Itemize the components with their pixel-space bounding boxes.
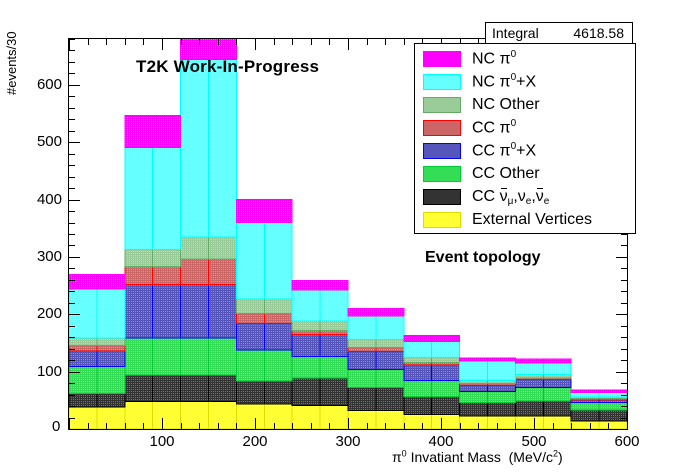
hist-bin xyxy=(543,388,571,401)
hist-bin xyxy=(348,316,376,340)
hist-bin xyxy=(181,60,209,237)
x-minor-tick xyxy=(571,423,572,429)
hist-bin xyxy=(209,375,237,401)
hist-bin xyxy=(69,366,97,393)
legend-caption: Event topology xyxy=(425,249,541,267)
hist-bin xyxy=(320,290,348,321)
hist-bin xyxy=(320,357,348,378)
hist-bin xyxy=(97,351,125,366)
y-tick-label: 500 xyxy=(16,134,62,149)
hist-bin xyxy=(292,334,320,356)
hist-bin xyxy=(348,352,376,370)
hist-bin xyxy=(320,330,348,334)
hist-bin xyxy=(153,115,181,147)
hist-bin xyxy=(264,223,292,299)
hist-bin xyxy=(376,369,404,387)
hist-bin xyxy=(599,390,627,392)
y-minor-tick xyxy=(621,349,627,350)
hist-bin xyxy=(292,321,320,330)
x-tick-label: 400 xyxy=(411,434,471,449)
x-major-tick xyxy=(348,418,349,429)
hist-bin xyxy=(488,361,516,381)
hist-bin xyxy=(320,280,348,290)
x-minor-tick xyxy=(478,423,479,429)
y-major-tick xyxy=(616,429,627,430)
hist-bin xyxy=(404,336,432,342)
hist-bin xyxy=(236,200,264,223)
x-tick-label: 200 xyxy=(225,434,285,449)
legend-item-3[interactable]: CC π0 xyxy=(415,116,635,139)
x-minor-tick xyxy=(515,423,516,429)
x-minor-tick xyxy=(274,39,275,45)
hist-bin xyxy=(97,345,125,351)
legend-item-label: NC Other xyxy=(472,97,540,113)
hist-bin xyxy=(404,341,432,357)
hist-bin xyxy=(236,223,264,299)
hist-bin xyxy=(571,410,599,421)
x-minor-tick xyxy=(385,423,386,429)
hist-bin xyxy=(460,380,488,383)
hist-bin xyxy=(181,284,209,337)
x-tick-label: 100 xyxy=(132,434,192,449)
hist-bin xyxy=(432,380,460,396)
hist-bin xyxy=(264,299,292,314)
x-minor-tick xyxy=(590,423,591,429)
legend-item-7[interactable]: External Vertices xyxy=(415,208,635,231)
y-minor-tick xyxy=(69,211,75,212)
x-minor-tick xyxy=(329,39,330,45)
hist-bin xyxy=(125,338,153,375)
hist-bin xyxy=(488,358,516,361)
hist-bin xyxy=(181,401,209,429)
y-minor-tick xyxy=(69,291,75,292)
hist-bin xyxy=(264,404,292,429)
hist-bin xyxy=(432,396,460,414)
hist-bin xyxy=(209,338,237,375)
y-minor-tick xyxy=(621,395,627,396)
hist-bin xyxy=(460,403,488,416)
x-tick-label: 500 xyxy=(504,434,564,449)
legend-item-1[interactable]: NC π0+X xyxy=(415,70,635,93)
y-minor-tick xyxy=(621,303,627,304)
y-axis-origin-label: 0 xyxy=(52,418,60,435)
hist-bin xyxy=(404,357,432,362)
legend-swatch-icon xyxy=(423,166,461,182)
x-minor-tick xyxy=(88,423,89,429)
legend-swatch-icon xyxy=(423,97,461,113)
hist-bin xyxy=(209,60,237,237)
hist-bin xyxy=(432,336,460,342)
hist-bin xyxy=(97,275,125,289)
x-minor-tick xyxy=(311,39,312,45)
hist-bin xyxy=(181,259,209,284)
hist-bin xyxy=(292,290,320,321)
hist-bin xyxy=(236,323,264,349)
legend-item-label: CC Other xyxy=(472,166,540,182)
hist-bin xyxy=(571,403,599,410)
hist-bin xyxy=(264,381,292,404)
statistics-box: Integral 4618.58 xyxy=(485,22,633,44)
x-minor-tick xyxy=(367,39,368,45)
y-tick-label: 600 xyxy=(16,77,62,92)
hist-bin xyxy=(264,323,292,349)
hist-bin xyxy=(460,358,488,361)
hist-bin xyxy=(515,363,543,374)
x-minor-tick xyxy=(404,39,405,45)
y-major-tick xyxy=(69,85,80,86)
y-minor-tick xyxy=(69,50,75,51)
hist-bin xyxy=(320,334,348,356)
legend-swatch-icon xyxy=(423,51,461,67)
hist-bin xyxy=(571,390,599,392)
y-minor-tick xyxy=(69,165,75,166)
y-minor-tick xyxy=(69,234,75,235)
legend-swatch-icon xyxy=(423,143,461,159)
hist-bin xyxy=(69,275,97,289)
statbox-label: Integral xyxy=(486,25,539,41)
legend-item-label: CC π0 xyxy=(472,119,516,136)
hist-bin xyxy=(292,330,320,334)
root-canvas-figure: #events/30 100200300400500600 1002003004… xyxy=(0,0,696,472)
x-minor-tick xyxy=(292,423,293,429)
hist-bin xyxy=(599,410,627,421)
hist-bin xyxy=(320,405,348,429)
x-minor-tick xyxy=(106,39,107,45)
x-minor-tick xyxy=(385,39,386,45)
x-major-tick xyxy=(162,418,163,429)
hist-bin xyxy=(432,365,460,380)
y-minor-tick xyxy=(69,303,75,304)
x-minor-tick xyxy=(88,39,89,45)
statbox-value: 4618.58 xyxy=(573,25,632,41)
y-major-tick xyxy=(69,142,80,143)
legend-item-label: CC νμ,νe,νe xyxy=(472,189,549,205)
legend-swatch-icon xyxy=(423,189,461,205)
hist-bin xyxy=(125,401,153,429)
hist-bin xyxy=(181,375,209,401)
hist-bin xyxy=(404,365,432,380)
hist-bin xyxy=(348,411,376,429)
hist-bin xyxy=(460,416,488,429)
x-minor-tick xyxy=(329,423,330,429)
hist-bin xyxy=(125,115,153,147)
y-minor-tick xyxy=(621,234,627,235)
hist-bin xyxy=(236,314,264,324)
x-tick-label: 600 xyxy=(597,434,657,449)
hist-bin xyxy=(348,309,376,316)
y-major-tick xyxy=(69,372,80,373)
hist-bin xyxy=(264,350,292,381)
x-minor-tick xyxy=(236,423,237,429)
x-minor-tick xyxy=(497,423,498,429)
hist-bin xyxy=(404,380,432,396)
x-minor-tick xyxy=(422,423,423,429)
hist-bin xyxy=(153,338,181,375)
hist-bin xyxy=(515,380,543,388)
y-minor-tick xyxy=(69,108,75,109)
y-minor-tick xyxy=(69,326,75,327)
legend-item-5[interactable]: CC Other xyxy=(415,162,635,185)
hist-bin xyxy=(460,392,488,403)
hist-bin xyxy=(348,340,376,348)
hist-bin xyxy=(376,348,404,352)
x-minor-tick xyxy=(181,423,182,429)
hist-bin xyxy=(348,388,376,411)
hist-bin xyxy=(236,350,264,381)
y-minor-tick xyxy=(69,62,75,63)
y-minor-tick xyxy=(69,383,75,384)
y-tick-label: 400 xyxy=(16,192,62,207)
y-tick-label: 300 xyxy=(16,249,62,264)
hist-bin xyxy=(488,392,516,403)
x-minor-tick xyxy=(236,39,237,45)
hist-bin xyxy=(236,381,264,404)
y-minor-tick xyxy=(69,73,75,74)
y-minor-tick xyxy=(69,188,75,189)
y-minor-tick xyxy=(69,395,75,396)
hist-bin xyxy=(404,396,432,414)
hist-bin xyxy=(97,393,125,407)
hist-bin xyxy=(236,404,264,429)
legend-item-label: External Vertices xyxy=(472,212,592,228)
hist-bin xyxy=(292,405,320,429)
x-minor-tick xyxy=(608,423,609,429)
hist-bin xyxy=(376,411,404,429)
hist-bin xyxy=(543,416,571,429)
hist-bin xyxy=(543,380,571,388)
x-major-tick xyxy=(69,418,70,429)
x-minor-tick xyxy=(125,423,126,429)
x-minor-tick xyxy=(106,423,107,429)
x-major-tick xyxy=(255,39,256,50)
y-minor-tick xyxy=(69,280,75,281)
hist-bin xyxy=(125,147,153,249)
hist-bin xyxy=(488,380,516,383)
y-minor-tick xyxy=(621,268,627,269)
legend: NC π0NC π0+XNC OtherCC π0CC π0+XCC Other… xyxy=(414,43,636,234)
x-tick-label: 300 xyxy=(318,434,378,449)
x-minor-tick xyxy=(367,423,368,429)
hist-bin xyxy=(181,338,209,375)
x-major-tick xyxy=(162,39,163,50)
legend-item-6[interactable]: CC νμ,νe,νe xyxy=(415,185,635,208)
hist-bin xyxy=(543,401,571,416)
hist-bin xyxy=(153,375,181,401)
hist-bin xyxy=(432,341,460,357)
x-minor-tick xyxy=(125,39,126,45)
hist-bin xyxy=(125,375,153,401)
y-minor-tick xyxy=(69,119,75,120)
y-tick-label: 100 xyxy=(16,364,62,379)
y-minor-tick xyxy=(69,245,75,246)
y-minor-tick xyxy=(69,337,75,338)
x-major-tick xyxy=(255,418,256,429)
hist-bin xyxy=(460,385,488,391)
x-minor-tick xyxy=(404,423,405,429)
y-minor-tick xyxy=(621,245,627,246)
y-minor-tick xyxy=(69,96,75,97)
hist-bin xyxy=(376,309,404,316)
legend-swatch-icon xyxy=(423,212,461,228)
hist-bin xyxy=(153,147,181,249)
y-minor-tick xyxy=(69,154,75,155)
hist-bin xyxy=(404,415,432,429)
y-minor-tick xyxy=(69,131,75,132)
hist-bin xyxy=(97,338,125,345)
x-major-tick xyxy=(534,418,535,429)
hist-bin xyxy=(376,352,404,370)
x-minor-tick xyxy=(218,423,219,429)
hist-bin xyxy=(69,351,97,366)
hist-bin xyxy=(460,361,488,381)
x-major-tick xyxy=(348,39,349,50)
hist-bin xyxy=(69,338,97,345)
y-minor-tick xyxy=(69,349,75,350)
hist-bin xyxy=(153,284,181,337)
hist-bin xyxy=(292,378,320,406)
x-minor-tick xyxy=(199,39,200,45)
x-axis-title: π0 Invatiant Mass (MeV/c2) xyxy=(392,448,563,465)
hist-bin xyxy=(97,407,125,429)
hist-bin xyxy=(488,385,516,391)
y-minor-tick xyxy=(621,291,627,292)
hist-bin xyxy=(571,421,599,429)
y-minor-tick xyxy=(69,177,75,178)
x-minor-tick xyxy=(199,423,200,429)
x-major-tick xyxy=(627,418,628,429)
x-minor-tick xyxy=(311,423,312,429)
hist-bin xyxy=(209,259,237,284)
hist-bin xyxy=(543,359,571,363)
hist-bin xyxy=(376,316,404,340)
hist-bin xyxy=(488,403,516,416)
legend-item-2[interactable]: NC Other xyxy=(415,93,635,116)
hist-bin xyxy=(488,416,516,429)
hist-bin xyxy=(571,392,599,397)
y-minor-tick xyxy=(621,326,627,327)
y-major-tick xyxy=(69,429,80,430)
hist-bin xyxy=(97,289,125,338)
x-minor-tick xyxy=(181,39,182,45)
x-major-tick xyxy=(69,39,70,50)
hist-bin xyxy=(320,378,348,406)
y-minor-tick xyxy=(621,383,627,384)
y-minor-tick xyxy=(621,337,627,338)
hist-bin xyxy=(515,401,543,416)
x-minor-tick xyxy=(292,39,293,45)
hist-bin xyxy=(348,348,376,352)
y-major-tick xyxy=(616,257,627,258)
hist-bin xyxy=(432,357,460,362)
hist-bin xyxy=(432,415,460,429)
y-major-tick xyxy=(69,200,80,201)
hist-bin xyxy=(264,314,292,324)
y-minor-tick xyxy=(69,223,75,224)
hist-bin xyxy=(153,267,181,285)
hist-bin xyxy=(348,369,376,387)
legend-item-label: CC π0+X xyxy=(472,142,536,159)
hist-bin xyxy=(376,340,404,348)
y-major-tick xyxy=(69,257,80,258)
legend-item-0[interactable]: NC π0 xyxy=(415,47,635,70)
hist-bin xyxy=(515,416,543,429)
y-minor-tick xyxy=(621,280,627,281)
hist-bin xyxy=(515,388,543,401)
x-minor-tick xyxy=(218,39,219,45)
x-minor-tick xyxy=(460,423,461,429)
hist-bin xyxy=(209,237,237,259)
x-axis-title-text: π0 Invatiant Mass (MeV/c2) xyxy=(392,449,563,465)
hist-bin xyxy=(599,421,627,429)
legend-swatch-icon xyxy=(423,120,461,136)
y-minor-tick xyxy=(69,406,75,407)
hist-bin xyxy=(125,284,153,337)
legend-item-4[interactable]: CC π0+X xyxy=(415,139,635,162)
x-minor-tick xyxy=(143,39,144,45)
hist-bin xyxy=(236,299,264,314)
hist-bin xyxy=(181,237,209,259)
hist-bin xyxy=(515,359,543,363)
x-minor-tick xyxy=(143,423,144,429)
hist-bin xyxy=(125,267,153,285)
y-minor-tick xyxy=(621,406,627,407)
legend-item-label: NC π0 xyxy=(472,50,516,67)
hist-bin xyxy=(376,388,404,411)
y-minor-tick xyxy=(621,360,627,361)
legend-item-label: NC π0+X xyxy=(472,73,536,90)
x-minor-tick xyxy=(553,423,554,429)
hist-bin xyxy=(543,375,571,378)
hist-bin xyxy=(320,321,348,330)
y-major-tick xyxy=(616,314,627,315)
y-major-tick xyxy=(616,372,627,373)
hist-bin xyxy=(264,200,292,223)
hist-bin xyxy=(292,280,320,290)
hist-bin xyxy=(209,284,237,337)
y-tick-label: 200 xyxy=(16,306,62,321)
hist-bin xyxy=(153,401,181,429)
hist-bin xyxy=(125,249,153,266)
y-minor-tick xyxy=(69,268,75,269)
hist-bin xyxy=(515,375,543,378)
hist-bin xyxy=(153,249,181,266)
hist-bin xyxy=(209,401,237,429)
hist-bin xyxy=(97,366,125,393)
x-minor-tick xyxy=(274,423,275,429)
hist-bin xyxy=(543,363,571,374)
figure-watermark-title: T2K Work-In-Progress xyxy=(136,57,319,77)
x-major-tick xyxy=(441,418,442,429)
legend-swatch-icon xyxy=(423,74,461,90)
y-minor-tick xyxy=(69,360,75,361)
y-major-tick xyxy=(69,314,80,315)
hist-bin xyxy=(292,357,320,378)
